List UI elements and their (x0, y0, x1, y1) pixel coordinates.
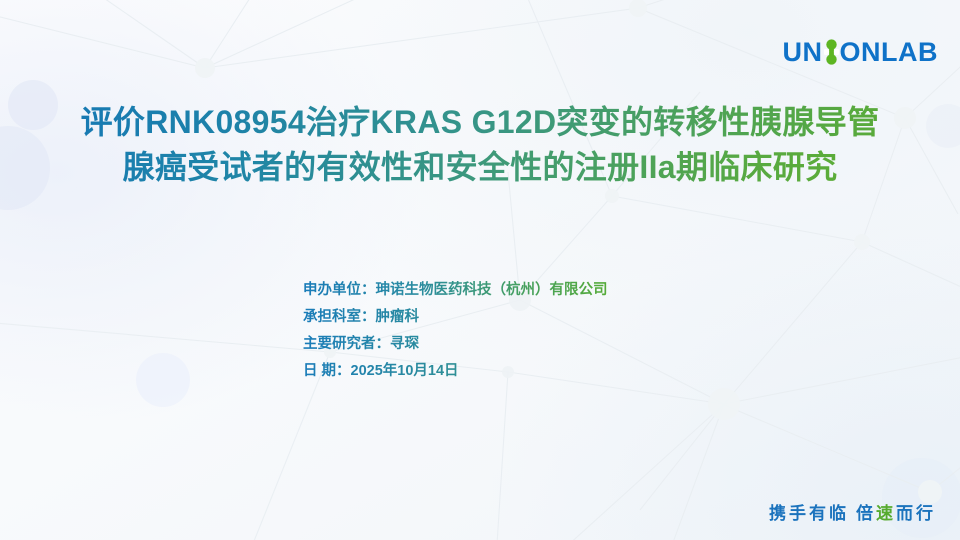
title-slide: UN ONLAB 评价RNK08954治疗KRAS G12D突变的转移性胰腺导管… (0, 0, 960, 540)
info-row-principal-investigator: 主要研究者：寻琛 (303, 335, 608, 353)
tagline-part-3: 而行 (896, 504, 936, 523)
page-title: 评价RNK08954治疗KRAS G12D突变的转移性胰腺导管 腺癌受试者的有效… (0, 100, 960, 191)
logo-text-after: ONLAB (840, 39, 939, 66)
info-row-date: 日 期：2025年10月14日 (303, 362, 608, 380)
logo-text-before: UN (783, 39, 823, 66)
unionlab-logo: UN ONLAB (783, 36, 939, 68)
title-line-2: 腺癌受试者的有效性和安全性的注册IIa期临床研究 (0, 145, 960, 190)
background-network-pattern (0, 0, 960, 540)
study-info-block: 申办单位：珅诺生物医药科技（杭州）有限公司 承担科室：肿瘤科 主要研究者：寻琛 … (303, 281, 608, 381)
tagline-accent-char: 速 (876, 504, 896, 523)
title-line-1: 评价RNK08954治疗KRAS G12D突变的转移性胰腺导管 (0, 100, 960, 145)
logo-text: UN ONLAB (783, 39, 939, 66)
tagline-part-1: 携手有临 (769, 504, 849, 523)
company-tagline: 携手有临倍速而行 (769, 499, 936, 524)
info-row-department: 承担科室：肿瘤科 (303, 308, 608, 326)
info-row-sponsor: 申办单位：珅诺生物医药科技（杭州）有限公司 (303, 281, 608, 299)
background-blobs (0, 0, 960, 540)
dna-molecule-icon (824, 39, 839, 65)
tagline-part-2: 倍 (856, 504, 876, 523)
